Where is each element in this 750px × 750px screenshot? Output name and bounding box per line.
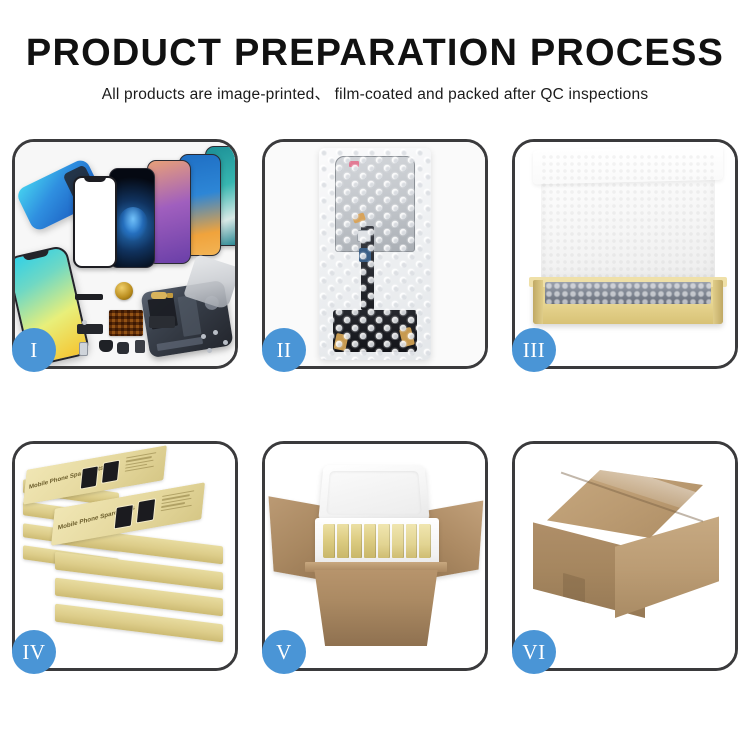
product-preparation-process-page: PRODUCT PREPARATION PROCESS All products… [0,0,750,750]
printed-box-stack: Mobile Phone Spare Parts [23,462,229,654]
wrapped-item-in-tray [545,282,711,304]
tray-right-wall [713,280,723,324]
yellow-box-2 [337,524,349,558]
foam-box-lid [318,465,430,522]
yellow-boxes-inside [323,524,431,558]
box-phone-thumb-2b [136,498,156,524]
step-badge-1: I [12,328,56,372]
small-part-2 [117,342,129,354]
bubble-wrap-package [319,148,431,360]
page-subtitle: All products are image-printed、 film-coa… [0,73,750,104]
box-spec-lines-2 [160,490,198,514]
taptic-engine-part [115,282,133,300]
yellow-box-3 [351,524,363,558]
step-badge-6: VI [512,630,556,674]
carton-body [309,570,443,646]
yellow-box-8 [419,524,431,558]
step-badge-4: IV [12,630,56,674]
flex-cable-part-b [149,316,175,328]
carton-seam-tab-top [563,573,585,605]
yellow-box-5 [378,524,390,558]
process-step-panel-1: I [12,139,238,369]
step-badge-5: V [262,630,306,674]
phone-screen-fan [73,156,233,268]
connector-grid-part [109,310,143,336]
foam-texture [541,154,715,282]
box-phone-thumb-2a [114,504,134,530]
yellow-box-7 [406,524,418,558]
process-step-panel-6: VI [512,441,738,671]
process-step-panel-3: III [512,139,738,369]
sim-tray-part [79,342,88,356]
box-spec-lines-1 [125,451,161,474]
yellow-box-6 [392,524,404,558]
spare-parts-group [71,282,191,360]
gold-contact-part [151,292,167,299]
small-part-1 [99,340,113,352]
screw-1 [201,334,206,339]
yellow-box-1 [323,524,335,558]
header: PRODUCT PREPARATION PROCESS All products… [0,0,750,104]
box-phone-thumb-1a [80,465,99,489]
yellow-box-tray [533,280,723,324]
screws-group [199,330,233,360]
small-part-3 [135,340,145,353]
screw-4 [207,348,212,353]
screw-3 [223,340,228,345]
white-foam-liner [541,154,715,282]
carton-face-top [547,470,703,538]
screw-2 [213,330,218,335]
bubble-wrap-texture [319,148,431,360]
jellyfish-wallpaper [118,207,148,241]
process-steps-grid: I [12,139,738,685]
page-title: PRODUCT PREPARATION PROCESS [0,0,750,73]
process-step-panel-4: Mobile Phone Spare Parts [12,441,238,671]
yellow-box-4 [364,524,376,558]
process-step-panel-2: II [262,139,488,369]
speaker-bar-part [75,294,103,300]
sealed-carton [529,470,721,630]
step-badge-2: II [262,328,306,372]
phone-screen-white-blank [73,176,117,268]
tray-left-wall [533,280,543,324]
flex-cable-part-a [77,324,103,334]
box-phone-thumb-1b [101,460,120,484]
process-step-panel-5: V [262,441,488,671]
step-badge-3: III [512,328,556,372]
